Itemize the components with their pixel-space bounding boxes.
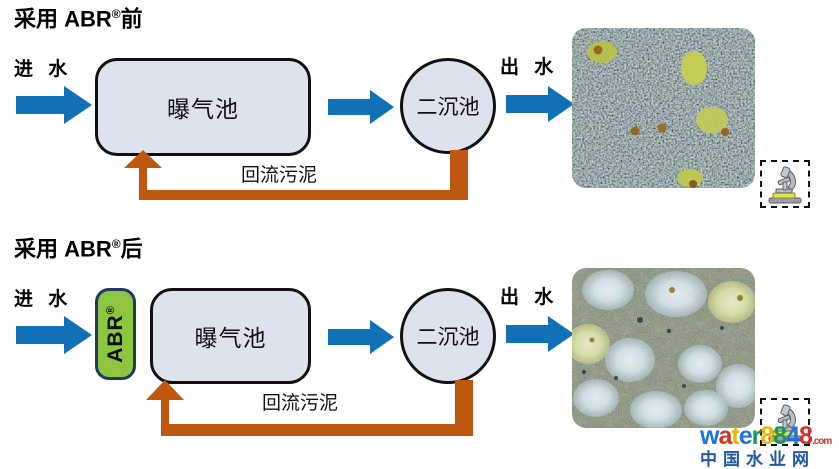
inlet-arrow-after (16, 316, 92, 354)
registered-mark-icon: ® (112, 237, 121, 251)
microscope-box-before (760, 160, 810, 208)
tank-to-clarifier-arrow-after (328, 320, 394, 354)
section-title-before: 采用 ABR®前 (14, 8, 143, 30)
clarifier-label-after: 二沉池 (417, 321, 480, 351)
clarifier-label-before: 二沉池 (417, 91, 480, 121)
tank-to-clarifier-arrow-before (328, 90, 394, 124)
outlet-label-after: 出 水 (500, 288, 558, 307)
watermark-subtitle: 中国水业网 (700, 451, 831, 468)
inlet-arrow-before (16, 86, 92, 124)
watermark: water8848.com 中国水业网 (700, 424, 831, 468)
compact-floc-image (572, 268, 755, 428)
watermark-water-text: water (700, 422, 760, 450)
inlet-label-before: 进 水 (14, 60, 72, 79)
aeration-tank-before: 曝气池 (95, 58, 311, 156)
section-title-after: 采用 ABR®后 (14, 238, 143, 260)
watermark-digits-text: 8848 (760, 422, 812, 450)
arrow-right-icon (16, 316, 92, 354)
abr-unit: ABR® (95, 288, 136, 380)
section-title-before-tail: 前 (121, 6, 143, 31)
secondary-clarifier-before: 二沉池 (400, 58, 496, 154)
section-title-after-main: 采用 ABR (14, 236, 112, 261)
watermark-brand: water8848.com (700, 424, 831, 449)
arrow-right-icon (328, 320, 394, 354)
filamentous-sludge-image (572, 28, 755, 188)
secondary-clarifier-after: 二沉池 (400, 288, 496, 384)
outlet-arrow-after (506, 316, 574, 352)
arrow-right-icon (506, 86, 574, 122)
watermark-com-text: .com (812, 436, 831, 447)
outlet-arrow-before (506, 86, 574, 122)
microscope-icon (762, 162, 808, 206)
return-sludge-label-before: 回流污泥 (237, 166, 321, 185)
registered-mark-icon: ® (105, 305, 117, 314)
micrograph-after (572, 268, 755, 428)
aeration-tank-after: 曝气池 (150, 288, 311, 384)
outlet-label-before: 出 水 (500, 58, 558, 77)
aeration-tank-label-before: 曝气池 (167, 90, 239, 124)
micrograph-before (572, 28, 755, 188)
arrow-right-icon (506, 316, 574, 352)
arrow-right-icon (328, 90, 394, 124)
arrow-right-icon (16, 86, 92, 124)
section-title-after-tail: 后 (121, 236, 143, 261)
aeration-tank-label-after: 曝气池 (195, 319, 267, 353)
return-sludge-label-after: 回流污泥 (258, 394, 342, 413)
abr-unit-label: ABR (104, 314, 127, 363)
section-title-before-main: 采用 ABR (14, 6, 112, 31)
inlet-label-after: 进 水 (14, 290, 72, 309)
registered-mark-icon: ® (112, 7, 121, 21)
abr-unit-label-wrap: ABR® (104, 305, 128, 363)
